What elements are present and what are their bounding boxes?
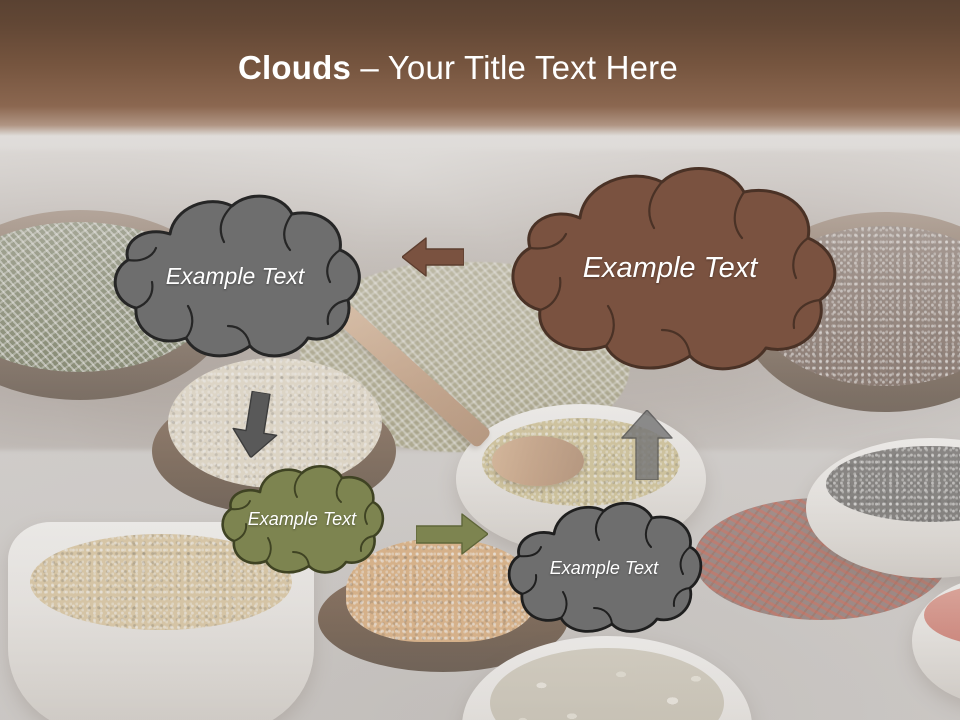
cloud-gray-left-svg [104,190,366,362]
cloud-shape-olive[interactable]: Example Text [218,462,386,576]
cloud-olive-svg [218,462,386,576]
page-title-separator: – [351,49,388,86]
cloud-shape-gray-left[interactable]: Example Text [104,190,366,362]
arrow-right-icon[interactable] [416,512,488,556]
page-title-rest: Your Title Text Here [388,49,678,86]
cloud-brown-svg [496,162,844,374]
arrow-right-olive-svg [416,512,488,556]
arrow-down-icon[interactable] [227,389,285,462]
page-title: Clouds – Your Title Text Here [238,48,678,88]
cloud-shape-gray-bottom[interactable]: Example Text [504,498,704,638]
cloud-gray-bottom-svg [504,498,704,638]
page-title-bold: Clouds [238,49,351,86]
arrow-left-icon[interactable] [402,236,464,278]
arrow-down-gray-svg [227,389,285,462]
arrow-up-icon[interactable] [620,410,674,480]
arrow-up-gray-svg [620,410,674,480]
slide-canvas: Clouds – Your Title Text Here Example Te… [0,0,960,720]
arrow-left-brown-svg [402,236,464,278]
cloud-shape-brown[interactable]: Example Text [496,162,844,374]
